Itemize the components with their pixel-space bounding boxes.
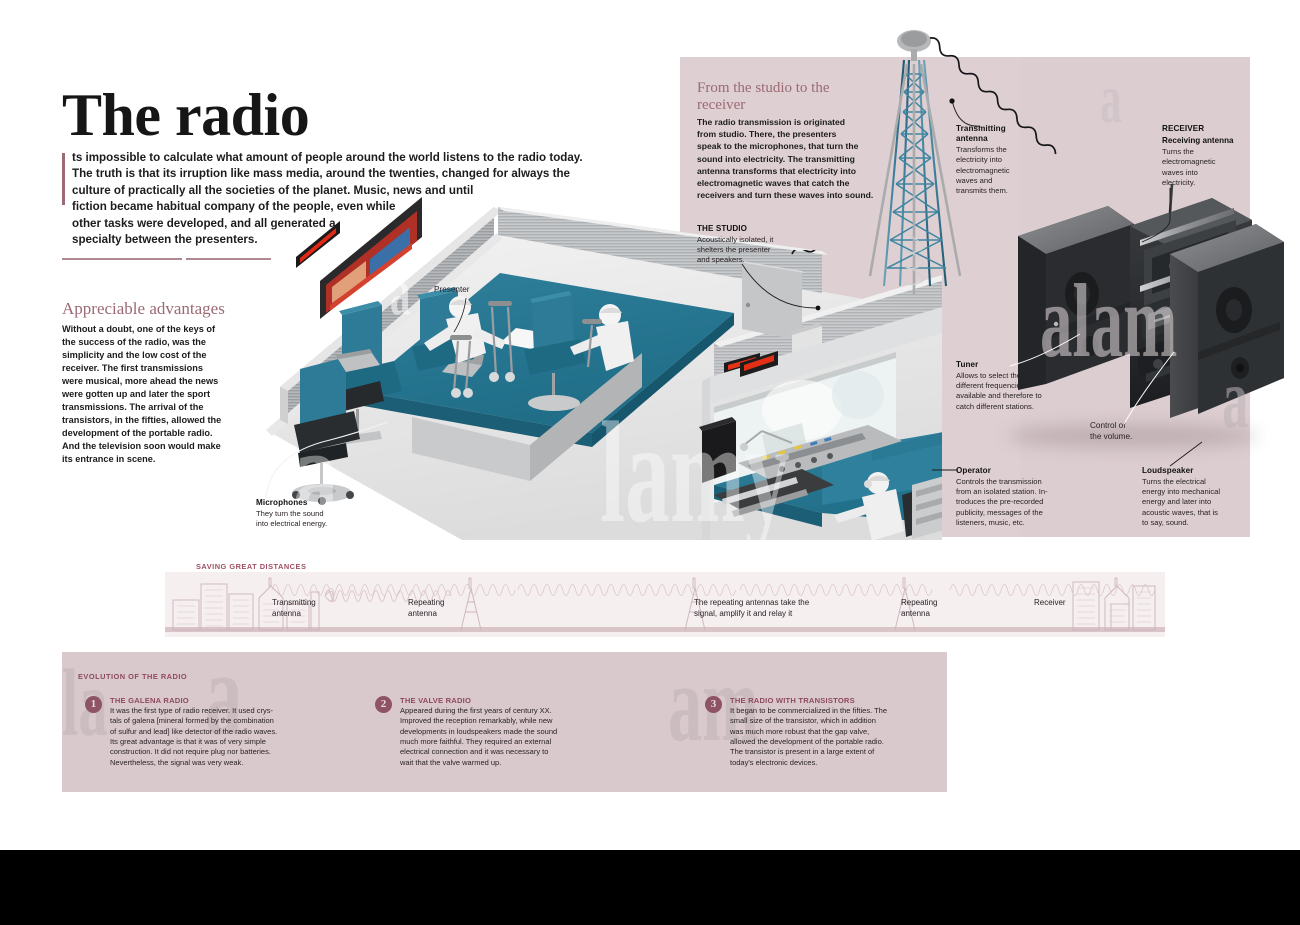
intro-text: ts impossible to calculate what amount o… bbox=[62, 150, 602, 249]
callout-receiver-title: RECEIVER bbox=[1162, 124, 1254, 134]
watermark-letter: a bbox=[292, 390, 339, 562]
studio-to-receiver-heading: From the studio to the receiver bbox=[697, 80, 879, 113]
divider-rule-2 bbox=[186, 258, 271, 260]
evolution-heading-2: THE VALVE RADIO bbox=[400, 696, 590, 705]
callout-tuner-title: Tuner bbox=[956, 360, 1066, 370]
evolution-title: EVOLUTION OF THE RADIO bbox=[78, 672, 187, 681]
callout-tuner: Tuner Allows to select the different fre… bbox=[956, 360, 1066, 412]
callout-receiver: RECEIVER Receiving antenna Turns the ele… bbox=[1162, 124, 1254, 188]
alamy-watermark-bar: alamy Image ID: 2NEBYPC www.alamy.com bbox=[0, 850, 1300, 925]
callout-transmitting-antenna-body: Transforms the electricity into electrom… bbox=[956, 145, 1056, 196]
evolution-item-3: 3 THE RADIO WITH TRANSISTORS It began to… bbox=[705, 696, 935, 768]
studio-to-receiver-block: From the studio to the receiver The radi… bbox=[697, 80, 879, 201]
evolution-item-1: 1 THE GALENA RADIO It was the first type… bbox=[85, 696, 300, 768]
callout-microphones-title: Microphones bbox=[256, 498, 366, 508]
watermark-letter: a bbox=[390, 255, 410, 331]
callout-the-studio-title: THE STUDIO bbox=[697, 224, 817, 234]
leader-line-presenter bbox=[452, 296, 492, 336]
evolution-number-1: 1 bbox=[85, 696, 102, 713]
callout-receiving-antenna-subtitle: Receiving antenna bbox=[1162, 136, 1254, 146]
leader-line-microphones bbox=[262, 420, 392, 500]
appreciable-advantages-heading: Appreciable advantages bbox=[62, 300, 242, 319]
callout-operator-body: Controls the transmission from an isolat… bbox=[956, 477, 1076, 528]
appreciable-advantages-body: Without a doubt, one of the keys of the … bbox=[62, 323, 242, 467]
appreciable-advantages-block: Appreciable advantages Without a doubt, … bbox=[62, 300, 242, 466]
callout-loudspeaker-body: Turns the electrical energy into mechani… bbox=[1142, 477, 1252, 528]
distance-label-receiver: Receiver bbox=[1034, 598, 1066, 609]
callout-presenter-title: Presenter bbox=[434, 285, 470, 296]
evolution-heading-3: THE RADIO WITH TRANSISTORS bbox=[730, 696, 935, 705]
callout-loudspeaker-title: Loudspeaker bbox=[1142, 466, 1252, 476]
evolution-body-3: It began to be commercialized in the fif… bbox=[730, 706, 935, 768]
callout-loudspeaker: Loudspeaker Turns the electrical energy … bbox=[1142, 466, 1252, 528]
distance-label-repeating-antenna-2: Repeating antenna bbox=[901, 598, 937, 620]
callout-transmitting-antenna-title: Transmitting antenna bbox=[956, 124, 1056, 144]
page-title: The radio bbox=[62, 85, 309, 145]
distance-label-repeating-antenna-1: Repeating antenna bbox=[408, 598, 444, 620]
callout-transmitting-antenna: Transmitting antenna Transforms the elec… bbox=[956, 124, 1056, 196]
evolution-number-2: 2 bbox=[375, 696, 392, 713]
distance-label-transmitting-antenna: Transmitting antenna bbox=[272, 598, 316, 620]
saving-distances-title: SAVING GREAT DISTANCES bbox=[196, 562, 306, 571]
callout-tuner-body: Allows to select the different frequenci… bbox=[956, 371, 1066, 412]
evolution-item-2: 2 THE VALVE RADIO Appeared during the fi… bbox=[375, 696, 590, 768]
callout-microphones: Microphones They turn the sound into ele… bbox=[256, 498, 366, 529]
intro-block: ts impossible to calculate what amount o… bbox=[62, 150, 602, 249]
evolution-body-2: Appeared during the first years of centu… bbox=[400, 706, 590, 768]
callout-operator-title: Operator bbox=[956, 466, 1076, 476]
callout-microphones-body: They turn the sound into electrical ener… bbox=[256, 509, 366, 529]
callout-volume-control: Control of the volume. bbox=[1090, 420, 1170, 443]
callout-presenter: Presenter bbox=[434, 284, 470, 296]
evolution-number-3: 3 bbox=[705, 696, 722, 713]
callout-operator: Operator Controls the transmission from … bbox=[956, 466, 1076, 528]
distance-label-relay-description: The repeating antennas take the signal, … bbox=[694, 598, 809, 620]
evolution-body-1: It was the first type of radio receiver.… bbox=[110, 706, 300, 768]
infographic-page: a la am a bbox=[0, 0, 1300, 925]
evolution-heading-1: THE GALENA RADIO bbox=[110, 696, 300, 705]
distances-ground-line bbox=[165, 627, 1165, 632]
callout-the-studio-body: Acoustically isolated, it shelters the p… bbox=[697, 235, 817, 266]
callout-volume-control-body: Control of the volume. bbox=[1090, 421, 1170, 443]
callout-receiver-body: Turns the electromagnetic waves into ele… bbox=[1162, 147, 1254, 188]
studio-to-receiver-body: The radio transmission is originated fro… bbox=[697, 116, 879, 201]
callout-the-studio: THE STUDIO Acoustically isolated, it she… bbox=[697, 224, 817, 266]
divider-rule bbox=[62, 258, 182, 260]
intro-accent-bar bbox=[62, 153, 65, 205]
